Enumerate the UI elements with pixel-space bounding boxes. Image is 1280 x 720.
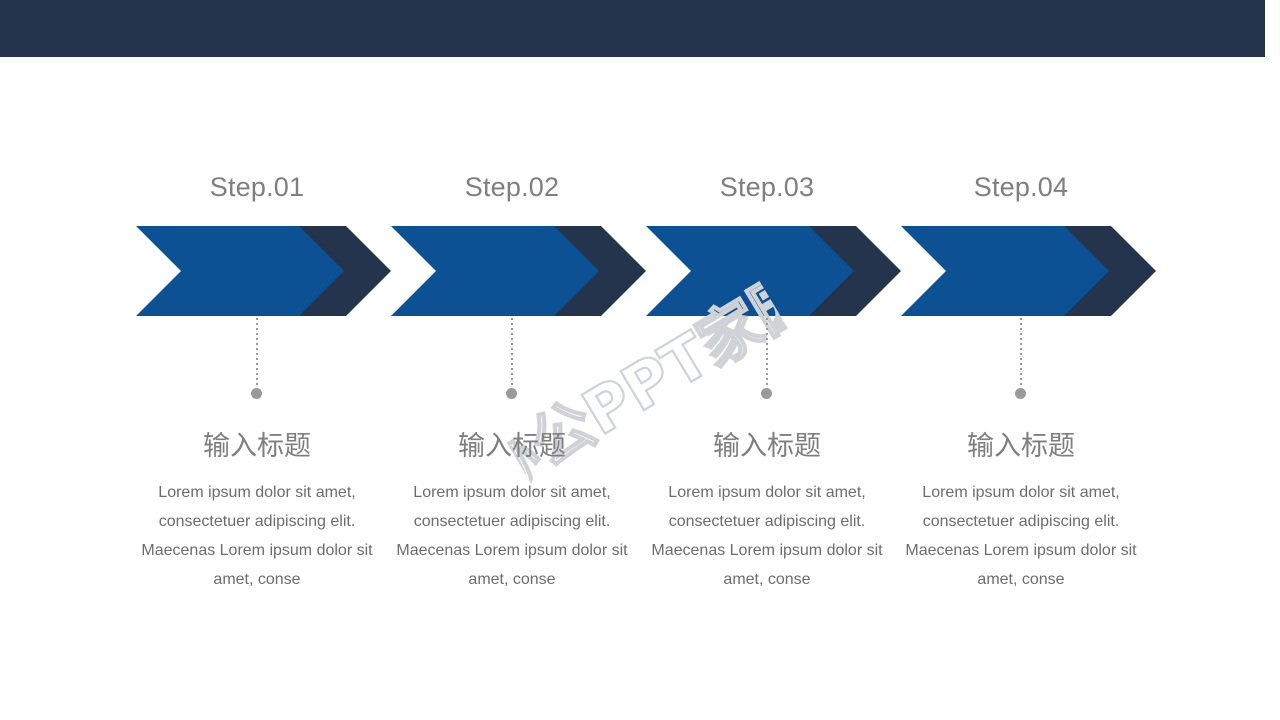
step-description-2: Lorem ipsum dolor sit amet, consectetuer… <box>392 478 632 594</box>
step-title-4: 输入标题 <box>906 428 1136 464</box>
connector-line-1 <box>256 318 258 388</box>
step-label-4: Step.04 <box>906 171 1136 204</box>
step-description-4: Lorem ipsum dolor sit amet, consectetuer… <box>901 478 1141 594</box>
step-label-1: Step.01 <box>142 171 372 204</box>
step-description-3: Lorem ipsum dolor sit amet, consectetuer… <box>647 478 887 594</box>
step-column-4: Step.04 输入标题 Lorem ipsum dolor sit amet,… <box>906 57 1136 720</box>
step-title-2: 输入标题 <box>397 428 627 464</box>
connector-dot-3 <box>761 388 772 399</box>
step-column-2: Step.02 输入标题 Lorem ipsum dolor sit amet,… <box>397 57 627 720</box>
step-title-3: 输入标题 <box>652 428 882 464</box>
step-description-1: Lorem ipsum dolor sit amet, consectetuer… <box>137 478 377 594</box>
step-title-1: 输入标题 <box>142 428 372 464</box>
connector-line-4 <box>1020 318 1022 388</box>
connector-dot-1 <box>251 388 262 399</box>
connector-dot-4 <box>1015 388 1026 399</box>
step-label-3: Step.03 <box>652 171 882 204</box>
step-column-1: Step.01 输入标题 Lorem ipsum dolor sit amet,… <box>142 57 372 720</box>
step-column-3: Step.03 输入标题 Lorem ipsum dolor sit amet,… <box>652 57 882 720</box>
top-header-bar <box>0 0 1265 57</box>
connector-dot-2 <box>506 388 517 399</box>
step-label-2: Step.02 <box>397 171 627 204</box>
connector-line-3 <box>766 318 768 388</box>
slide-canvas: 办公PPT家园 Step.01 输入标题 Lorem ipsum dolor s… <box>0 57 1280 720</box>
connector-line-2 <box>511 318 513 388</box>
